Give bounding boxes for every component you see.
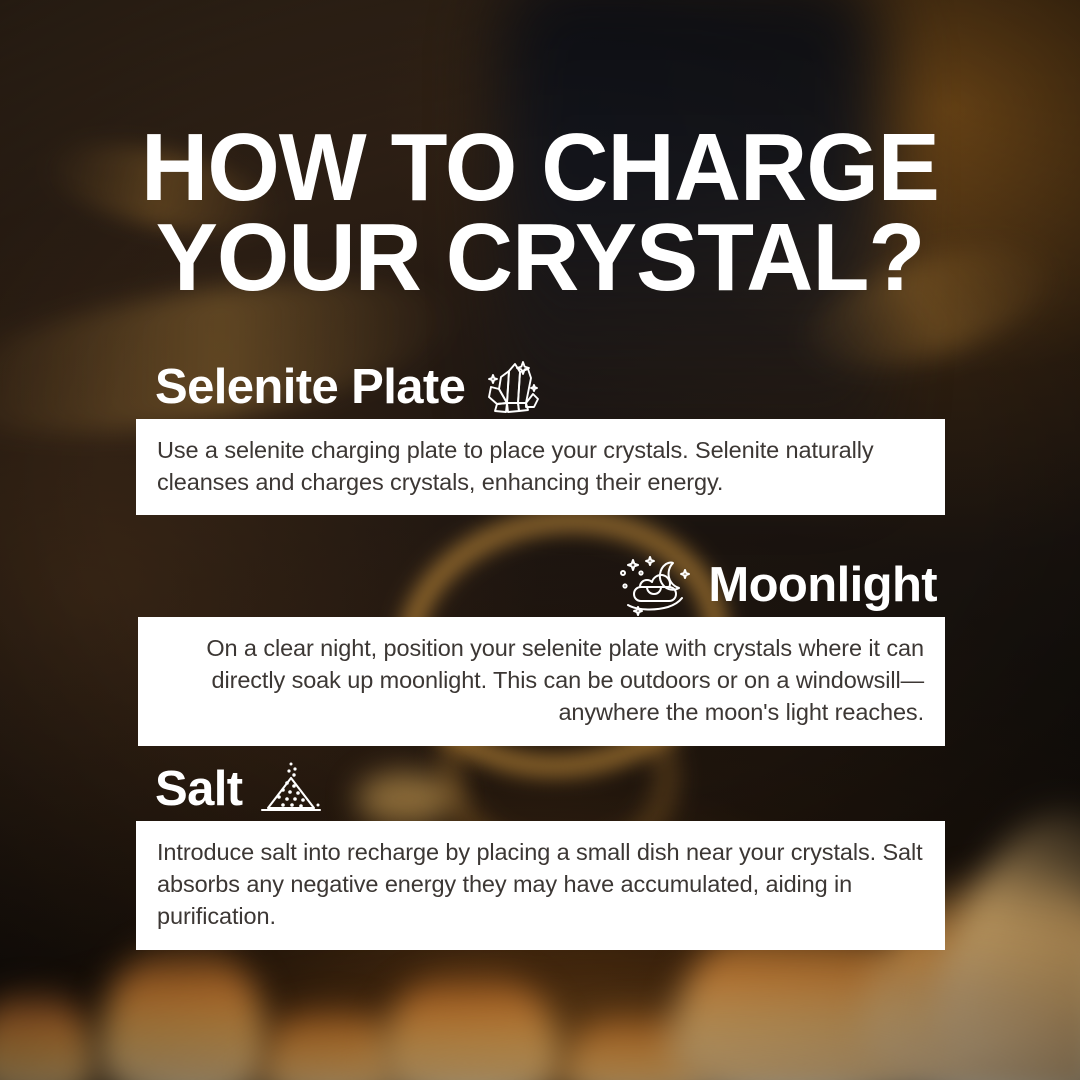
- section-heading-row: Moonlight: [136, 553, 945, 617]
- page-title-line-2: YOUR CRYSTAL?: [16, 213, 1064, 303]
- section-body-text: On a clear night, position your selenite…: [206, 635, 924, 725]
- section-body-text: Use a selenite charging plate to place y…: [157, 437, 873, 495]
- section-body-card: On a clear night, position your selenite…: [138, 617, 945, 746]
- section-heading-label: Salt: [155, 765, 242, 814]
- crystal-cluster-icon: [479, 359, 541, 415]
- salt-mound-icon: [256, 761, 326, 817]
- section-body-text: Introduce salt into recharge by placing …: [157, 839, 923, 929]
- section-heading-row: Salt: [136, 757, 945, 821]
- section-body-card: Introduce salt into recharge by placing …: [136, 821, 945, 950]
- section-body-card: Use a selenite charging plate to place y…: [136, 419, 945, 515]
- section-moonlight: Moonlight On a clear night, position you…: [136, 553, 945, 746]
- section-heading-label: Selenite Plate: [155, 363, 465, 412]
- page-title-line-1: HOW TO CHARGE: [16, 123, 1064, 213]
- section-heading-row: Selenite Plate: [136, 355, 945, 419]
- page-title: HOW TO CHARGE YOUR CRYSTAL?: [0, 123, 1080, 303]
- section-selenite-plate: Selenite Plate: [136, 355, 945, 515]
- section-heading-label: Moonlight: [708, 561, 937, 610]
- crystal-charging-infographic: HOW TO CHARGE YOUR CRYSTAL? Selenite Pla…: [0, 0, 1080, 1080]
- section-salt: Salt: [136, 757, 945, 950]
- crescent-moon-clouds-icon: [616, 554, 694, 616]
